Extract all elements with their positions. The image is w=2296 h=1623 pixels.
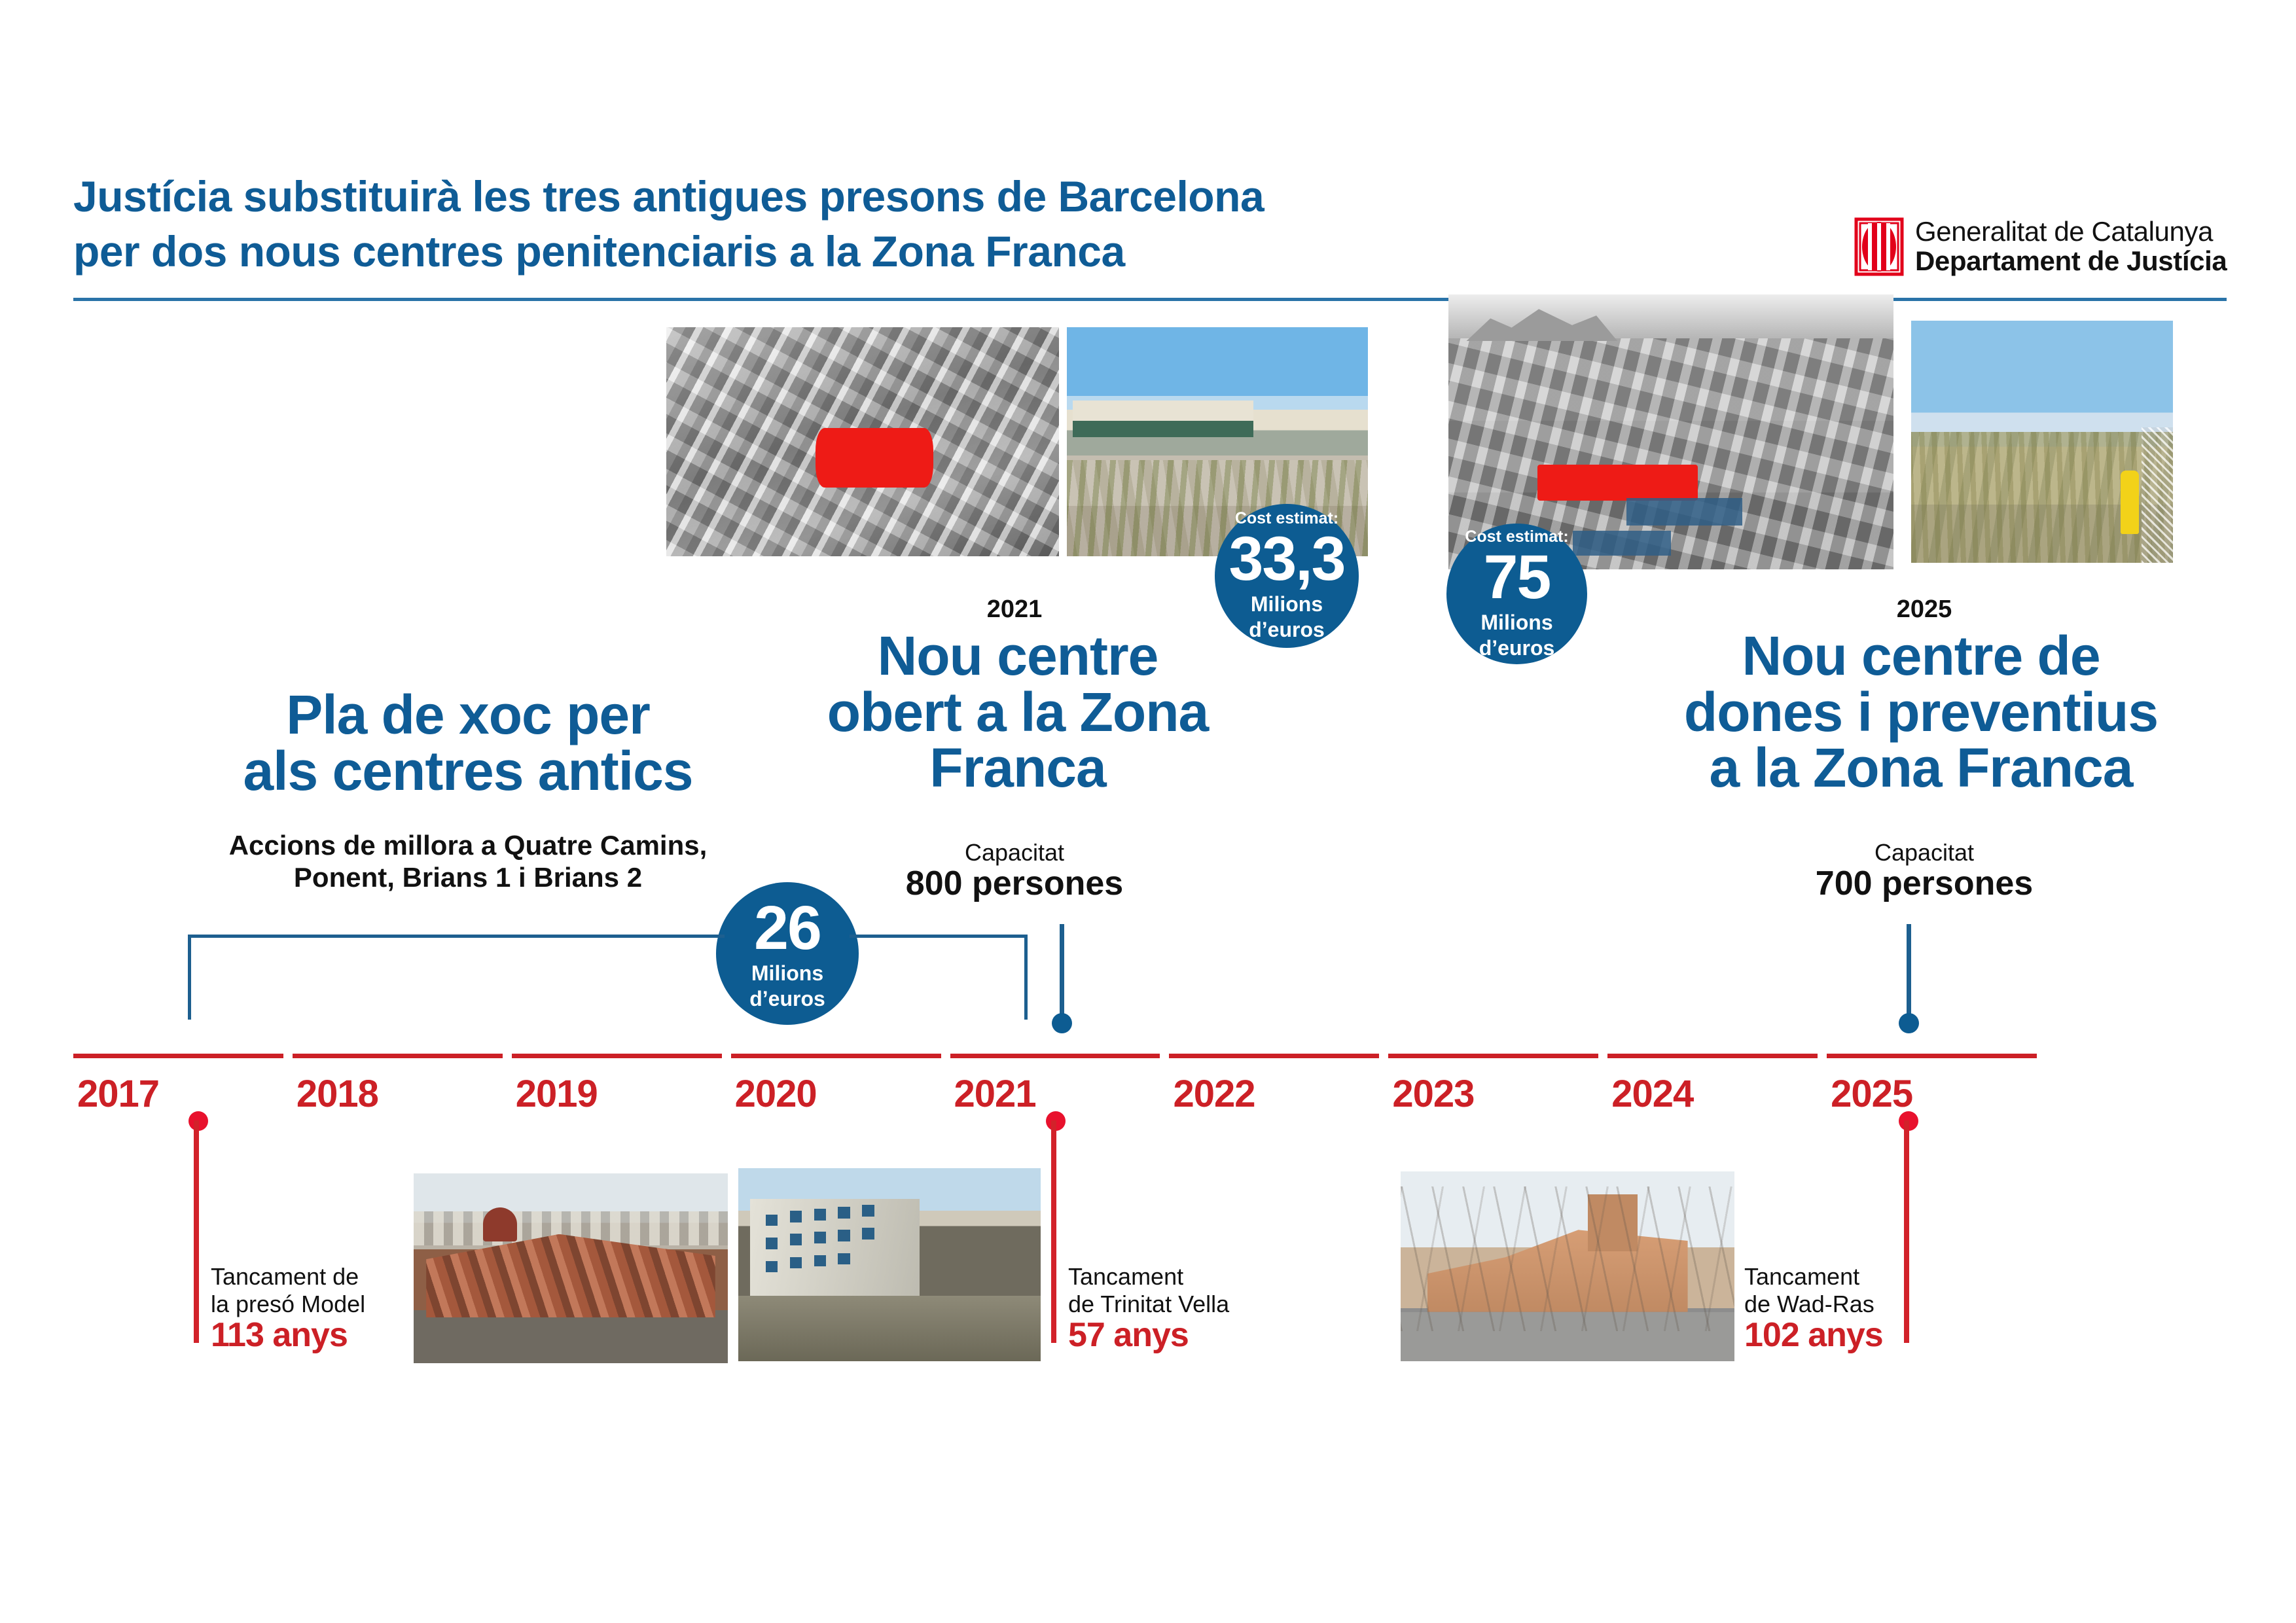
plot-highlight xyxy=(816,428,933,488)
axis-year-label-2017: 2017 xyxy=(77,1072,159,1116)
badge-cost-26: 26 Milions d’euros xyxy=(716,882,859,1025)
photo-preso-model xyxy=(414,1173,728,1363)
column-2021-headline: Nou centre obert a la Zona Franca xyxy=(795,628,1240,796)
headline-line-2: obert a la Zona xyxy=(795,685,1240,741)
plot-highlight xyxy=(1537,465,1698,501)
badge-unit-line-2: d’euros xyxy=(1479,637,1555,660)
closure-label-line-2: la presó Model xyxy=(211,1291,427,1318)
axis-segment-2017 xyxy=(73,1054,283,1058)
axis-segment-2024 xyxy=(1607,1054,1818,1058)
axis-segment-2018 xyxy=(293,1054,503,1058)
senyera-shield-icon xyxy=(1854,217,1905,277)
column-pla-xoc-subtitle: Accions de millora a Quatre Camins, Pone… xyxy=(157,830,779,893)
headline-line-3: Franca xyxy=(795,740,1240,796)
span-bracket-top-left xyxy=(188,935,725,938)
column-2021-capacity-value: 800 persones xyxy=(851,864,1178,903)
infographic-canvas: Justícia substituirà les tres antigues p… xyxy=(0,0,2296,1623)
photo-scrub-lot-zona-franca xyxy=(1911,321,2173,563)
column-2021-year: 2021 xyxy=(870,596,1158,624)
headline-line-1: Nou centre de xyxy=(1590,628,2251,685)
column-2025-capacity-value: 700 persones xyxy=(1761,864,2088,903)
header-divider xyxy=(73,298,2227,301)
closure-line-trinitat-vella xyxy=(1051,1120,1056,1343)
column-2025-headline: Nou centre de dones i preventius a la Zo… xyxy=(1590,628,2251,796)
axis-year-label-2025: 2025 xyxy=(1831,1072,1912,1116)
closure-years-trinitat-vella: 57 anys xyxy=(1068,1315,1304,1355)
photo-trinitat-vella xyxy=(738,1168,1041,1361)
column-2025-year: 2025 xyxy=(1780,596,2068,624)
axis-segment-2023 xyxy=(1388,1054,1598,1058)
axis-year-label-2023: 2023 xyxy=(1392,1072,1474,1116)
axis-year-label-2022: 2022 xyxy=(1173,1072,1255,1116)
subtitle-line-1: Accions de millora a Quatre Camins, xyxy=(157,830,779,862)
closure-label-trinitat-vella: Tancament de Trinitat Vella xyxy=(1068,1263,1304,1319)
badge-unit-line-1: Milions xyxy=(1480,611,1552,634)
closure-years-model: 113 anys xyxy=(211,1315,427,1355)
pin-dot-2025-opening xyxy=(1899,1013,1919,1033)
axis-segment-2019 xyxy=(512,1054,722,1058)
span-bracket-leg-right xyxy=(1024,935,1028,1020)
page-title-line-2: per dos nous centres penitenciaris a la … xyxy=(73,224,1579,279)
logo-wordmark: Generalitat de Catalunya Departament de … xyxy=(1915,217,2227,276)
axis-year-label-2019: 2019 xyxy=(516,1072,598,1116)
axis-year-label-2024: 2024 xyxy=(1611,1072,1693,1116)
column-2021-capacity-label: Capacitat xyxy=(870,839,1158,866)
pin-line-2021-opening xyxy=(1060,924,1064,1021)
badge-unit-line-2: d’euros xyxy=(749,988,825,1010)
closure-line-model xyxy=(194,1120,199,1343)
span-bracket-top-right xyxy=(850,935,1028,938)
closure-label-wad-ras: Tancament de Wad-Ras xyxy=(1744,1263,1960,1319)
badge-unit-line-1: Milions xyxy=(1251,593,1323,616)
headline-line-2: als centres antics xyxy=(157,743,779,800)
generalitat-logo: Generalitat de Catalunya Departament de … xyxy=(1854,211,2233,283)
logo-org-name: Generalitat de Catalunya xyxy=(1915,217,2227,247)
badge-number: 26 xyxy=(754,897,821,959)
page-title: Justícia substituirà les tres antigues p… xyxy=(73,169,1579,279)
page-title-line-1: Justícia substituirà les tres antigues p… xyxy=(73,169,1579,224)
axis-year-label-2021: 2021 xyxy=(954,1072,1036,1116)
axis-year-label-2018: 2018 xyxy=(296,1072,378,1116)
closure-label-line-1: Tancament xyxy=(1068,1263,1304,1291)
closure-label-line-2: de Wad-Ras xyxy=(1744,1291,1960,1318)
axis-segment-2021 xyxy=(950,1054,1160,1058)
headline-line-2: dones i preventius xyxy=(1590,685,2251,741)
badge-unit-line-2: d’euros xyxy=(1249,618,1325,641)
badge-number: 33,3 xyxy=(1229,528,1345,590)
timeline-axis xyxy=(73,1054,2037,1059)
column-pla-xoc-headline: Pla de xoc per als centres antics xyxy=(157,687,779,799)
photo-wad-ras xyxy=(1401,1171,1734,1361)
pin-line-2025-opening xyxy=(1907,924,1911,1021)
timeline-year-labels: 201720182019202020212022202320242025 xyxy=(73,1072,2102,1131)
subtitle-line-2: Ponent, Brians 1 i Brians 2 xyxy=(157,862,779,894)
axis-segment-2022 xyxy=(1169,1054,1379,1058)
badge-cost-33: Cost estimat: 33,3 Milions d’euros xyxy=(1215,504,1359,648)
column-2025-capacity-label: Capacitat xyxy=(1780,839,2068,866)
closure-label-line-1: Tancament xyxy=(1744,1263,1960,1291)
headline-line-1: Pla de xoc per xyxy=(157,687,779,743)
axis-segment-2020 xyxy=(731,1054,941,1058)
axis-year-label-2020: 2020 xyxy=(735,1072,817,1116)
axis-segment-2025 xyxy=(1827,1054,2037,1058)
badge-cost-75: Cost estimat: 75 Milions d’euros xyxy=(1446,524,1587,664)
headline-line-1: Nou centre xyxy=(795,628,1240,685)
span-bracket-leg-left xyxy=(188,935,191,1020)
closure-label-model: Tancament de la presó Model xyxy=(211,1263,427,1319)
pin-dot-2021-opening xyxy=(1052,1013,1072,1033)
badge-unit-line-1: Milions xyxy=(751,962,823,985)
closure-years-wad-ras: 102 anys xyxy=(1744,1315,1960,1355)
badge-number: 75 xyxy=(1484,546,1551,609)
closure-label-line-1: Tancament de xyxy=(211,1263,427,1291)
closure-label-line-2: de Trinitat Vella xyxy=(1068,1291,1304,1318)
headline-line-3: a la Zona Franca xyxy=(1590,740,2251,796)
logo-dept-name: Departament de Justícia xyxy=(1915,247,2227,276)
photo-aerial-zona-franca-plot-1 xyxy=(666,327,1059,556)
